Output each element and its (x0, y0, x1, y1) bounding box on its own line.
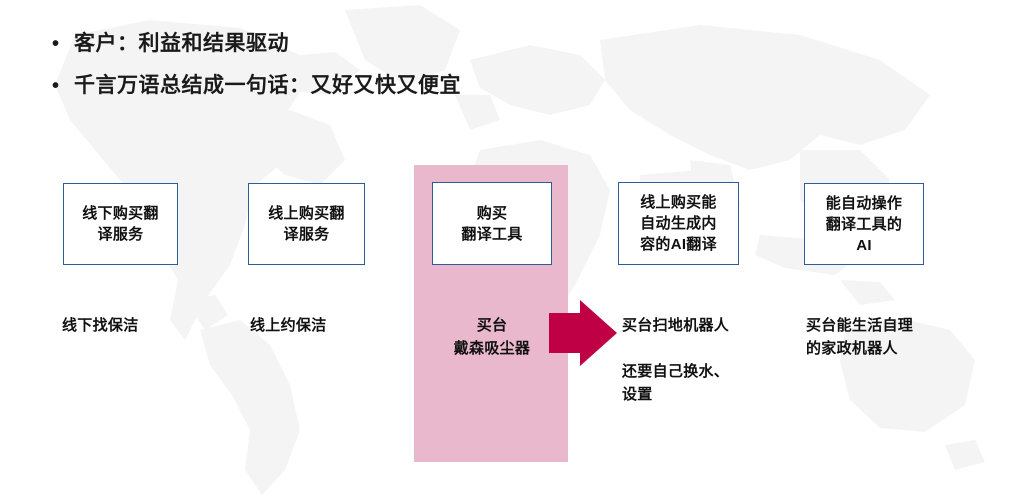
stage-box-label: 线上购买翻 译服务 (268, 203, 345, 245)
bullet-marker: • (52, 70, 74, 102)
stage-box-offline-translation-service[interactable]: 线下购买翻 译服务 (63, 183, 178, 265)
bullet-item: • 客户：利益和结果驱动 (52, 28, 752, 60)
stage-box-buy-translation-tool[interactable]: 购买 翻译工具 (432, 182, 552, 265)
stage-box-label: 能自动操作 翻译工具的 AI (826, 193, 903, 256)
bullet-text: 千言万语总结成一句话：又好又快又便宜 (74, 70, 461, 102)
stage-box-label: 购买 翻译工具 (461, 203, 522, 245)
bullet-item: • 千言万语总结成一句话：又好又快又便宜 (52, 70, 752, 102)
stage-box-ai-content-translation[interactable]: 线上购买能 自动生成内 容的AI翻译 (618, 182, 739, 265)
stage-box-label: 线上购买能 自动生成内 容的AI翻译 (640, 192, 717, 255)
stage-box-label: 线下购买翻 译服务 (82, 203, 159, 245)
stage-box-online-translation-service[interactable]: 线上购买翻 译服务 (248, 183, 365, 265)
caption-online-cleaning: 线上约保洁 (250, 314, 327, 337)
right-arrow-icon (549, 300, 617, 366)
slide-canvas: • 客户：利益和结果驱动 • 千言万语总结成一句话：又好又快又便宜 线下购买翻 … (0, 0, 1014, 499)
caption-buy-robot-vacuum: 买台扫地机器人 (622, 314, 729, 337)
stage-box-autonomous-ai[interactable]: 能自动操作 翻译工具的 AI (804, 183, 924, 265)
caption-manual-refill-note: 还要自己换水、 设置 (622, 360, 729, 406)
caption-self-sufficient-robot: 买台能生活自理 的家政机器人 (806, 314, 913, 360)
bullet-text: 客户：利益和结果驱动 (74, 28, 289, 60)
caption-buy-vacuum: 买台 戴森吸尘器 (432, 314, 552, 360)
bullet-list: • 客户：利益和结果驱动 • 千言万语总结成一句话：又好又快又便宜 (52, 28, 752, 112)
caption-offline-cleaning: 线下找保洁 (62, 314, 139, 337)
bullet-marker: • (52, 28, 74, 60)
